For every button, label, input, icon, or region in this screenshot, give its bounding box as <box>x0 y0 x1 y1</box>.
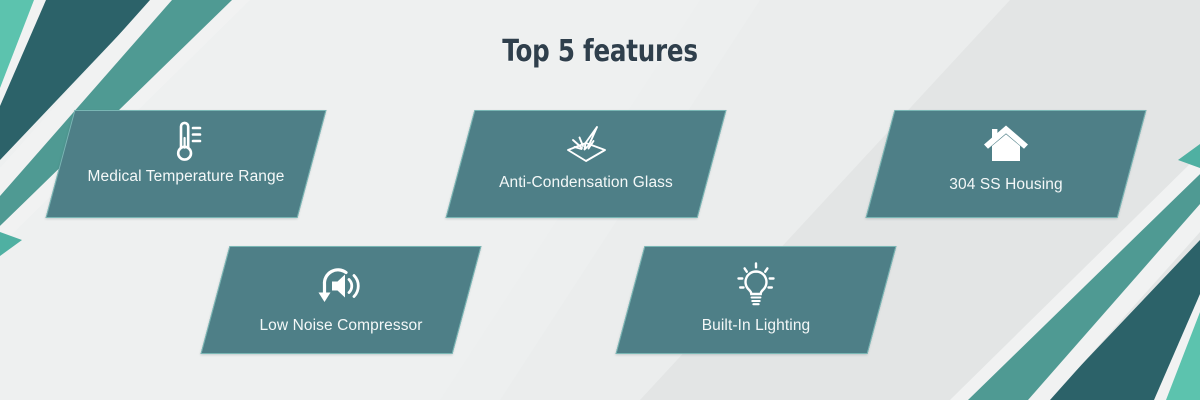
thermometer-icon <box>168 118 204 168</box>
feature-card-anti-condensation-glass[interactable]: Anti-Condensation Glass <box>446 110 727 218</box>
feature-card-label: Low Noise Compressor <box>259 317 422 336</box>
page-title: Top 5 features <box>108 34 1092 69</box>
feature-card-content: Low Noise Compressor <box>216 247 466 353</box>
feature-card-label: 304 SS Housing <box>949 176 1062 195</box>
feature-card-low-noise-compressor[interactable]: Low Noise Compressor <box>201 246 482 354</box>
feature-card-content: Medical Temperature Range <box>61 111 311 217</box>
feature-card-304-ss-housing[interactable]: 304 SS Housing <box>866 110 1147 218</box>
volume-down-icon <box>315 261 367 311</box>
lightbulb-icon <box>732 261 780 311</box>
house-icon <box>983 120 1029 170</box>
feature-card-label: Anti-Condensation Glass <box>499 174 673 193</box>
feature-card-medical-temperature-range[interactable]: Medical Temperature Range <box>46 110 327 218</box>
feature-card-label: Medical Temperature Range <box>88 168 285 187</box>
feature-card-content: Built-In Lighting <box>631 247 881 353</box>
feature-card-built-in-lighting[interactable]: Built-In Lighting <box>616 246 897 354</box>
feature-card-label: Built-In Lighting <box>702 317 811 336</box>
feature-card-content: Anti-Condensation Glass <box>461 111 711 217</box>
condensation-glass-icon <box>560 120 612 170</box>
feature-card-content: 304 SS Housing <box>881 111 1131 217</box>
